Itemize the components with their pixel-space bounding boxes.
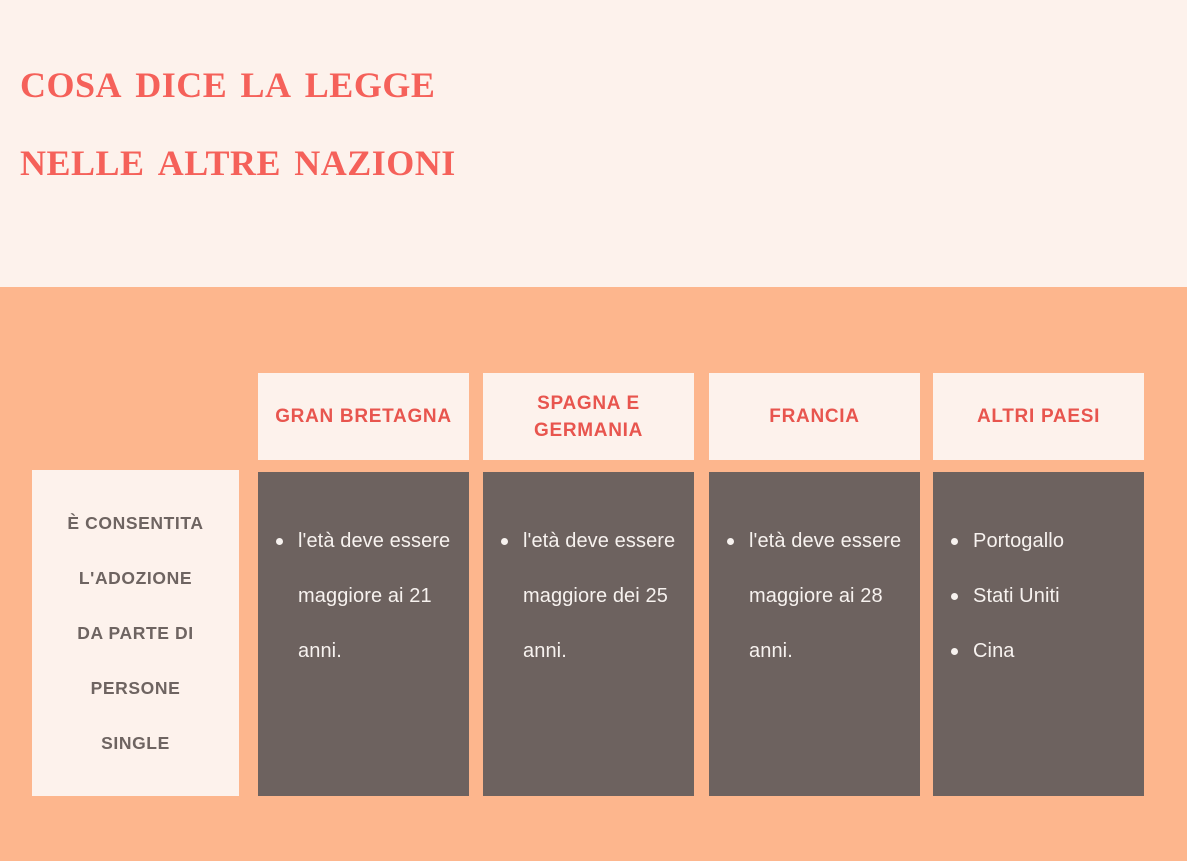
row-label-card: È CONSENTITA L'ADOZIONE DA PARTE DI PERS… [32, 470, 239, 796]
list-item-text: Portogallo [973, 530, 1064, 552]
column-header-altri-paesi: ALTRI PAESI [933, 373, 1144, 460]
list: l'età deve essere maggiore ai 28 anni. [723, 514, 906, 679]
list-item-text: l'età deve essere maggiore ai 21 anni. [298, 530, 450, 662]
row-label-line: È CONSENTITA [67, 496, 203, 551]
column-body-altri-paesi: Portogallo Stati Uniti Cina [933, 472, 1144, 796]
row-label-line: SINGLE [101, 716, 170, 771]
column-header-label: SPAGNA EGERMANIA [534, 390, 643, 444]
column-body-spagna-e-germania: l'età deve essere maggiore dei 25 anni. [483, 472, 694, 796]
list-item-text: Cina [973, 640, 1015, 662]
column-body-francia: l'età deve essere maggiore ai 28 anni. [709, 472, 920, 796]
bullet-icon [727, 514, 735, 569]
list-item: Cina [973, 624, 1130, 679]
list-item: l'età deve essere maggiore ai 28 anni. [749, 514, 906, 679]
column-header-gran-bretagna: GRAN BRETAGNA [258, 373, 469, 460]
bullet-icon [951, 624, 959, 679]
title-band: Cosa dice la legge nelle altre Nazioni [0, 0, 1187, 287]
list-item: Portogallo [973, 514, 1130, 569]
column-header-spagna-e-germania: SPAGNA EGERMANIA [483, 373, 694, 460]
page-title: Cosa dice la legge nelle altre Nazioni [20, 42, 1020, 198]
row-label-line: L'ADOZIONE [79, 551, 192, 606]
list: Portogallo Stati Uniti Cina [947, 514, 1130, 679]
list-item-text: l'età deve essere maggiore ai 28 anni. [749, 530, 901, 662]
column-header-label: ALTRI PAESI [977, 403, 1100, 430]
page-title-line-2: nelle altre Nazioni [20, 120, 1020, 198]
bullet-icon [951, 514, 959, 569]
list-item: Stati Uniti [973, 569, 1130, 624]
list-item-text: Stati Uniti [973, 585, 1060, 607]
list-item: l'età deve essere maggiore ai 21 anni. [298, 514, 455, 679]
column-body-gran-bretagna: l'età deve essere maggiore ai 21 anni. [258, 472, 469, 796]
list-item-text: l'età deve essere maggiore dei 25 anni. [523, 530, 675, 662]
row-label-line: PERSONE [91, 661, 181, 716]
list: l'età deve essere maggiore dei 25 anni. [497, 514, 680, 679]
slide-root: Cosa dice la legge nelle altre Nazioni È… [0, 0, 1187, 861]
column-header-label-line: SPAGNA E [537, 393, 640, 414]
bullet-icon [501, 514, 509, 569]
column-header-label: FRANCIA [769, 403, 859, 430]
column-header-francia: FRANCIA [709, 373, 920, 460]
column-header-label-line: GERMANIA [534, 420, 643, 441]
bullet-icon [276, 514, 284, 569]
row-label-line: DA PARTE DI [77, 606, 193, 661]
body-band: È CONSENTITA L'ADOZIONE DA PARTE DI PERS… [0, 287, 1187, 861]
bullet-icon [951, 569, 959, 624]
comparison-table: È CONSENTITA L'ADOZIONE DA PARTE DI PERS… [0, 287, 1187, 861]
list: l'età deve essere maggiore ai 21 anni. [272, 514, 455, 679]
list-item: l'età deve essere maggiore dei 25 anni. [523, 514, 680, 679]
page-title-line-1: Cosa dice la legge [20, 42, 1020, 120]
column-header-label: GRAN BRETAGNA [275, 403, 452, 430]
